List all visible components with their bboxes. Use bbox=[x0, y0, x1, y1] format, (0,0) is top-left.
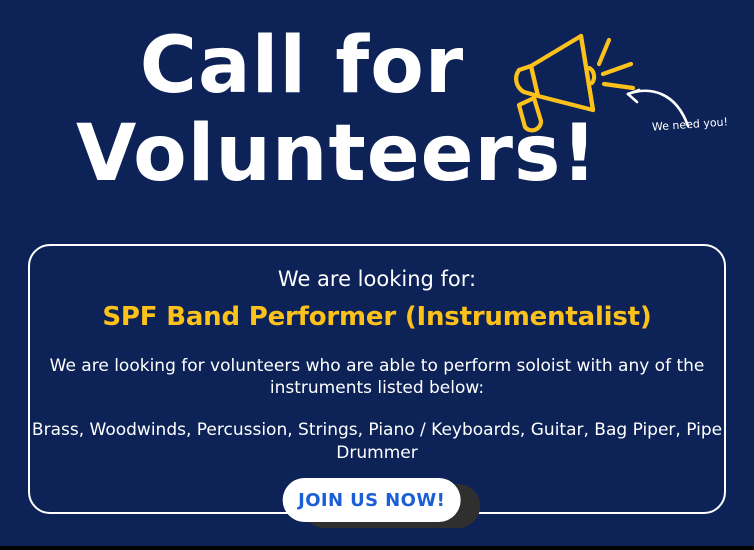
cta-container: JOIN US NOW! bbox=[30, 478, 724, 536]
join-us-now-button[interactable]: JOIN US NOW! bbox=[283, 478, 461, 522]
card-description: We are looking for volunteers who are ab… bbox=[30, 355, 724, 399]
instrument-list: Brass, Woodwinds, Percussion, Strings, P… bbox=[30, 419, 724, 465]
card-lead-text: We are looking for: bbox=[30, 264, 724, 294]
volunteer-details-card: We are looking for: SPF Band Performer (… bbox=[28, 244, 726, 514]
call-for-volunteers-poster: Call for Volunteers! We need bbox=[0, 0, 754, 550]
role-title: SPF Band Performer (Instrumentalist) bbox=[30, 300, 724, 334]
